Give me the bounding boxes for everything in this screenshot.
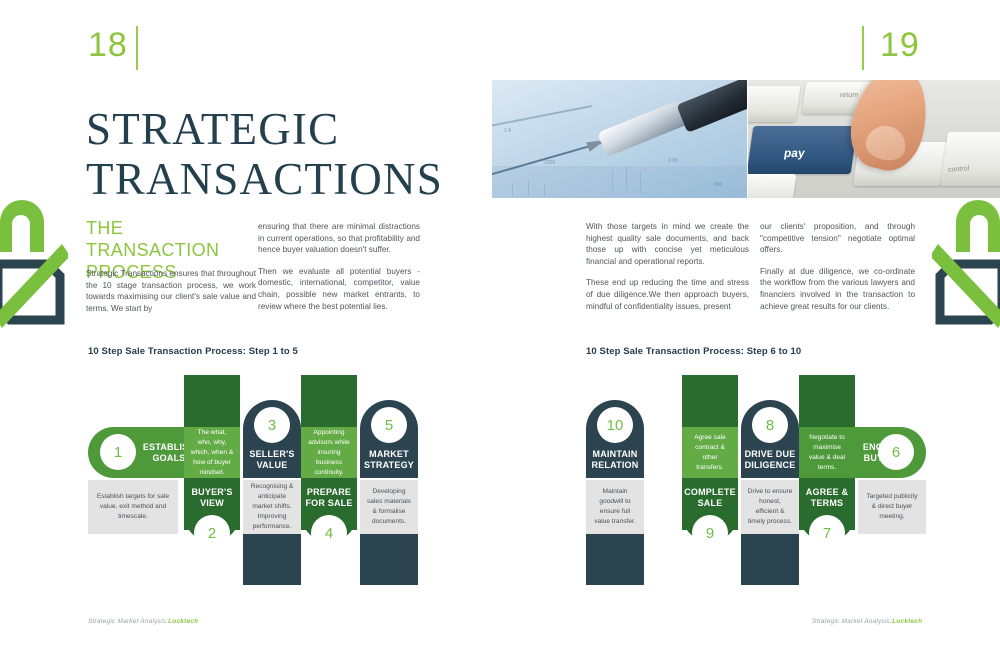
paragraph: Then we evaluate all potential buyers - … — [258, 266, 420, 312]
chart-label: 1200 — [544, 160, 555, 166]
step-9-description: Agree sale contract & other transfers. — [682, 427, 738, 478]
body-column-4: our clients' proposition, and through "c… — [760, 221, 915, 322]
step-4-number: 4 — [311, 515, 347, 551]
locktech-lock-logo-left — [0, 196, 68, 332]
locktech-lock-logo-right — [932, 196, 1000, 332]
footer-right: Strategic Market Analysis:Locktech — [812, 618, 922, 625]
step-10-description: Maintain goodwill to ensure full value t… — [586, 480, 644, 534]
process-diagram-steps-1-to-5: 1 ESTABLISH GOALS The what, who, why, wh… — [88, 375, 428, 590]
page-number-left: 18 — [88, 26, 128, 65]
diagram-title-right: 10 Step Sale Transaction Process: Step 6… — [586, 346, 801, 357]
finger-pressing-pay-key-photo: return pay control — [748, 80, 1000, 198]
body-column-1: Strategic Transactions ensures that thro… — [86, 268, 256, 324]
step-8-description: Drive to ensure honest, efficient & time… — [741, 480, 799, 534]
step-3-label: SELLER'S VALUE — [243, 441, 301, 478]
step-8-label: DRIVE DUE DILIGENCE — [739, 441, 801, 478]
page-number-right-rule — [862, 26, 864, 70]
paragraph: ensuring that there are minimal distract… — [258, 221, 420, 256]
footer-right-brand: Locktech — [892, 618, 922, 625]
step-8-number: 8 — [752, 407, 788, 443]
chart-label: 2.05 — [668, 158, 678, 164]
page-number-left-rule — [136, 26, 138, 70]
step-1-description: Establish targets for sale value, exit m… — [88, 480, 178, 534]
step-7-number: 7 — [809, 515, 845, 551]
footer-right-text: Strategic Market Analysis: — [812, 618, 892, 625]
step-1-number: 1 — [100, 434, 136, 470]
step-4-description: Appointing advisors while insuring busin… — [301, 427, 357, 478]
step-4-label: PREPARE FOR SALE — [301, 480, 357, 516]
step-6-number: 6 — [878, 434, 914, 470]
page-number-right: 19 — [880, 26, 920, 65]
chart-label: 1.4 — [504, 128, 511, 134]
step-6-description: Targeted publicity & direct buyer meetin… — [858, 480, 926, 534]
step-2-description: The what, who, why, which, when & how of… — [184, 427, 240, 478]
process-diagram-steps-6-to-10: 10 MAINTAIN RELATION Maintain goodwill t… — [586, 375, 926, 590]
paragraph: Strategic Transactions ensures that thro… — [86, 268, 256, 314]
paragraph: our clients' proposition, and through "c… — [760, 221, 915, 256]
footer-left-text: Strategic Market Analysis: — [88, 618, 168, 625]
body-column-2: ensuring that there are minimal distract… — [258, 221, 420, 322]
page-title: STRATEGIC TRANSACTIONS — [86, 104, 443, 204]
diagram-title-left: 10 Step Sale Transaction Process: Step 1… — [88, 346, 298, 357]
step-7-label: AGREE & TERMS — [799, 480, 855, 516]
step-7-description: Negotiate to maximise value & deal terms… — [799, 427, 855, 478]
step-9-number: 9 — [692, 515, 728, 551]
chart-label: 260 — [714, 182, 722, 188]
step-10-label: MAINTAIN RELATION — [586, 441, 644, 478]
paragraph: Finally at due diligence, we co-ordinate… — [760, 266, 915, 312]
paragraph: These end up reducing the time and stres… — [586, 277, 749, 312]
step-10-number: 10 — [597, 407, 633, 443]
step-5-label: MARKET STRATEGY — [360, 441, 418, 478]
page-title-line-2: TRANSACTIONS — [86, 154, 443, 204]
step-2-number: 2 — [194, 515, 230, 551]
body-column-3: With those targets in mind we create the… — [586, 221, 749, 322]
step-3-number: 3 — [254, 407, 290, 443]
footer-left-brand: Locktech — [168, 618, 198, 625]
step-5-number: 5 — [371, 407, 407, 443]
key-label-pay: pay — [783, 146, 806, 160]
document-spread: 18 19 STRATEGIC TRANSACTIONS THE TRANSAC… — [0, 0, 1000, 647]
step-2-label: BUYER'S VIEW — [184, 480, 240, 516]
step-9-label: COMPLETE SALE — [682, 480, 738, 516]
step-3-description: Recognising & anticipate market shifts. … — [243, 480, 301, 534]
step-5-description: Developing sales materials & formalise d… — [360, 480, 418, 534]
key-label-return: return — [840, 92, 859, 99]
footer-left: Strategic Market Analysis:Locktech — [88, 618, 198, 625]
paragraph: With those targets in mind we create the… — [586, 221, 749, 267]
page-title-line-1: STRATEGIC — [86, 104, 443, 154]
pen-on-financial-chart-photo: 1.4 1200 2.05 260 — [492, 80, 747, 198]
